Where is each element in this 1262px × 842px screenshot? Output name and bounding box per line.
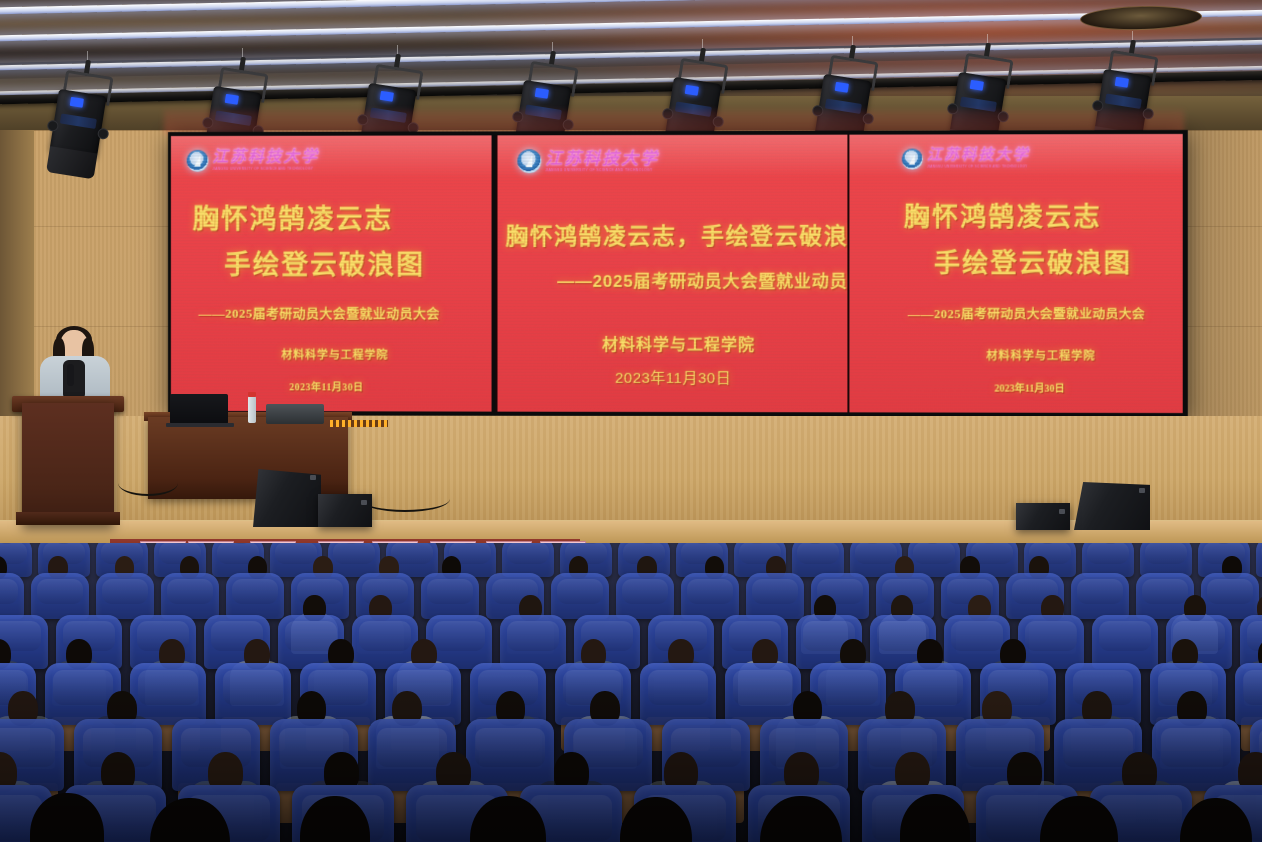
light-led-display (70, 97, 84, 108)
led-video-wall: 江苏科技大学 JIANGSU UNIVERSITY OF SCIENCE AND… (168, 130, 1188, 417)
auditorium-seat (500, 615, 566, 669)
speaker-badge-icon (310, 475, 316, 480)
auditorium-seat (0, 573, 24, 619)
auditorium-seat (421, 573, 479, 619)
floor-cable (118, 470, 178, 496)
floor-cable (360, 486, 450, 512)
headline-line2-left: 手绘登云破浪图 (224, 243, 425, 282)
auditorium-seat (1140, 543, 1192, 577)
auditorium-seat (551, 573, 609, 619)
organizer-left: 材料科学与工程学院 (281, 347, 388, 363)
led-panel-center: 江苏科技大学 JIANGSU UNIVERSITY OF SCIENCE AND… (496, 135, 850, 413)
audience-seating (0, 543, 1262, 842)
screen-logo-left: 江苏科技大学 JIANGSU UNIVERSITY OF SCIENCE AND… (187, 150, 319, 172)
control-box (266, 404, 324, 424)
bottle-cap (248, 392, 256, 397)
headline-center: 胸怀鸿鹄凌云志，手绘登云破浪图 (505, 217, 849, 251)
auditorium-scene: 江苏科技大学 JIANGSU UNIVERSITY OF SCIENCE AND… (0, 0, 1262, 842)
subtitle-left: ——2025届考研动员大会暨就业动员大会 (199, 303, 440, 322)
organizer-center: 材料科学与工程学院 (602, 331, 755, 355)
auditorium-seat (616, 573, 674, 619)
logo-english-name: JIANGSU UNIVERSITY OF SCIENCE AND TECHNO… (212, 168, 319, 171)
speaker-badge-icon (1139, 488, 1145, 493)
auditorium-seat (792, 543, 844, 577)
light-led-display (380, 91, 394, 102)
auditorium-seat (908, 543, 960, 577)
headline-line1-left: 胸怀鸿鹄凌云志 (193, 197, 394, 236)
microphone-icon (67, 364, 74, 386)
auditorium-seat (640, 663, 716, 725)
sail-emblem-icon (187, 150, 209, 172)
light-led-display (225, 94, 239, 105)
screen-logo-right: 江苏科技大学 JIANGSU UNIVERSITY OF SCIENCE AND… (902, 148, 1030, 169)
auditorium-seat (1235, 663, 1262, 725)
laptop (170, 394, 228, 424)
stage-monitor-speaker (1074, 482, 1150, 530)
logo-chinese-name: 江苏科技大学 (927, 149, 1030, 164)
date-center: 2023年11月30日 (615, 367, 731, 388)
light-led-display (1115, 77, 1129, 88)
date-left: 2023年11月30日 (289, 378, 363, 393)
auditorium-seat (502, 543, 554, 577)
logo-chinese-name: 江苏科技大学 (212, 150, 319, 166)
led-panel-left: 江苏科技大学 JIANGSU UNIVERSITY OF SCIENCE AND… (171, 135, 492, 411)
logo-english-name: JIANGSU UNIVERSITY OF SCIENCE AND TECHNO… (545, 169, 659, 173)
auditorium-seat (1201, 573, 1259, 619)
auditorium-seat (1082, 543, 1134, 577)
auditorium-seat (215, 663, 291, 725)
auditorium-seat (1256, 543, 1262, 577)
headline-line2-right: 手绘登云破浪图 (934, 243, 1132, 280)
subtitle-center: ——2025届考研动员大会暨就业动员大会 (557, 267, 849, 292)
screen-logo-center: 江苏科技大学 JIANGSU UNIVERSITY OF SCIENCE AND… (517, 149, 659, 173)
auditorium-seat (96, 573, 154, 619)
organizer-right: 材料科学与工程学院 (986, 347, 1095, 363)
date-right: 2023年11月30日 (994, 380, 1064, 395)
auditorium-seat (466, 719, 554, 791)
auditorium-seat (1092, 615, 1158, 669)
podium-base (16, 512, 120, 525)
stage-monitor-speaker (1016, 503, 1070, 530)
auditorium-seat (226, 573, 284, 619)
led-indicator-strip (330, 420, 388, 427)
logo-chinese-name: 江苏科技大学 (545, 150, 659, 167)
sail-emblem-icon (902, 149, 923, 170)
laptop-base (166, 423, 234, 427)
headline-line1-right: 胸怀鸿鹄凌云志 (904, 197, 1102, 234)
light-led-display (970, 80, 984, 91)
water-bottle (248, 396, 256, 423)
auditorium-seat (681, 573, 739, 619)
speaker-badge-icon (1059, 509, 1065, 514)
auditorium-seat (328, 543, 380, 577)
auditorium-seat (161, 573, 219, 619)
speaker-badge-icon (361, 500, 367, 505)
auditorium-seat (31, 573, 89, 619)
auditorium-seat (746, 573, 804, 619)
stage-monitor-speaker (318, 494, 372, 527)
subtitle-right: ——2025届考研动员大会暨就业动员大会 (908, 303, 1145, 322)
auditorium-seat (1071, 573, 1129, 619)
auditorium-seat (1152, 719, 1240, 791)
auditorium-seat (850, 543, 902, 577)
logo-english-name: JIANGSU UNIVERSITY OF SCIENCE AND TECHNO… (927, 166, 1030, 169)
led-panel-right: 江苏科技大学 JIANGSU UNIVERSITY OF SCIENCE AND… (849, 134, 1182, 413)
light-led-display (535, 88, 549, 99)
right-wall-shadow (1182, 130, 1262, 420)
stage-monitor-speaker (253, 469, 321, 527)
sail-emblem-icon (517, 149, 541, 173)
presenter (40, 330, 110, 406)
podium (22, 403, 114, 525)
